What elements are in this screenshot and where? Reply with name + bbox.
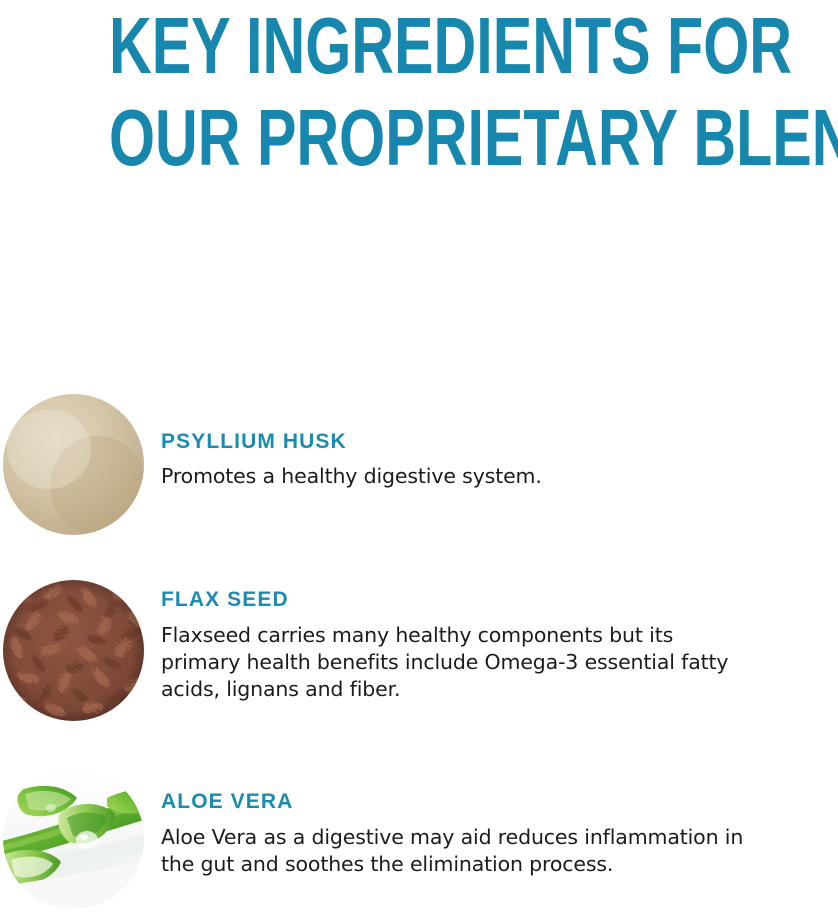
page-title-block: KEY INGREDIENTS FOR OUR PROPRIETARY BLEN… [0,0,838,182]
ingredient-description: Flaxseed carries many healthy components… [161,612,838,703]
ingredient-name: ALOE VERA [161,768,838,814]
aloe-vera-text: ALOE VERA Aloe Vera as a digestive may a… [161,768,838,878]
page-title-line-2: OUR PROPRIETARY BLEND [109,94,729,182]
aloe-vera-image [3,768,144,909]
ingredient-description: Aloe Vera as a digestive may aid reduces… [161,814,838,878]
ingredient-description: Promotes a healthy digestive system. [161,454,838,490]
page-title-line-1: KEY INGREDIENTS FOR [109,2,729,90]
psyllium-husk-image [3,394,144,535]
psyllium-husk-text: PSYLLIUM HUSK Promotes a healthy digesti… [161,394,838,490]
ingredient-name: PSYLLIUM HUSK [161,394,838,454]
flax-seed-text: FLAX SEED Flaxseed carries many healthy … [161,580,838,703]
flax-seed-image [3,580,144,721]
ingredient-name: FLAX SEED [161,580,838,612]
